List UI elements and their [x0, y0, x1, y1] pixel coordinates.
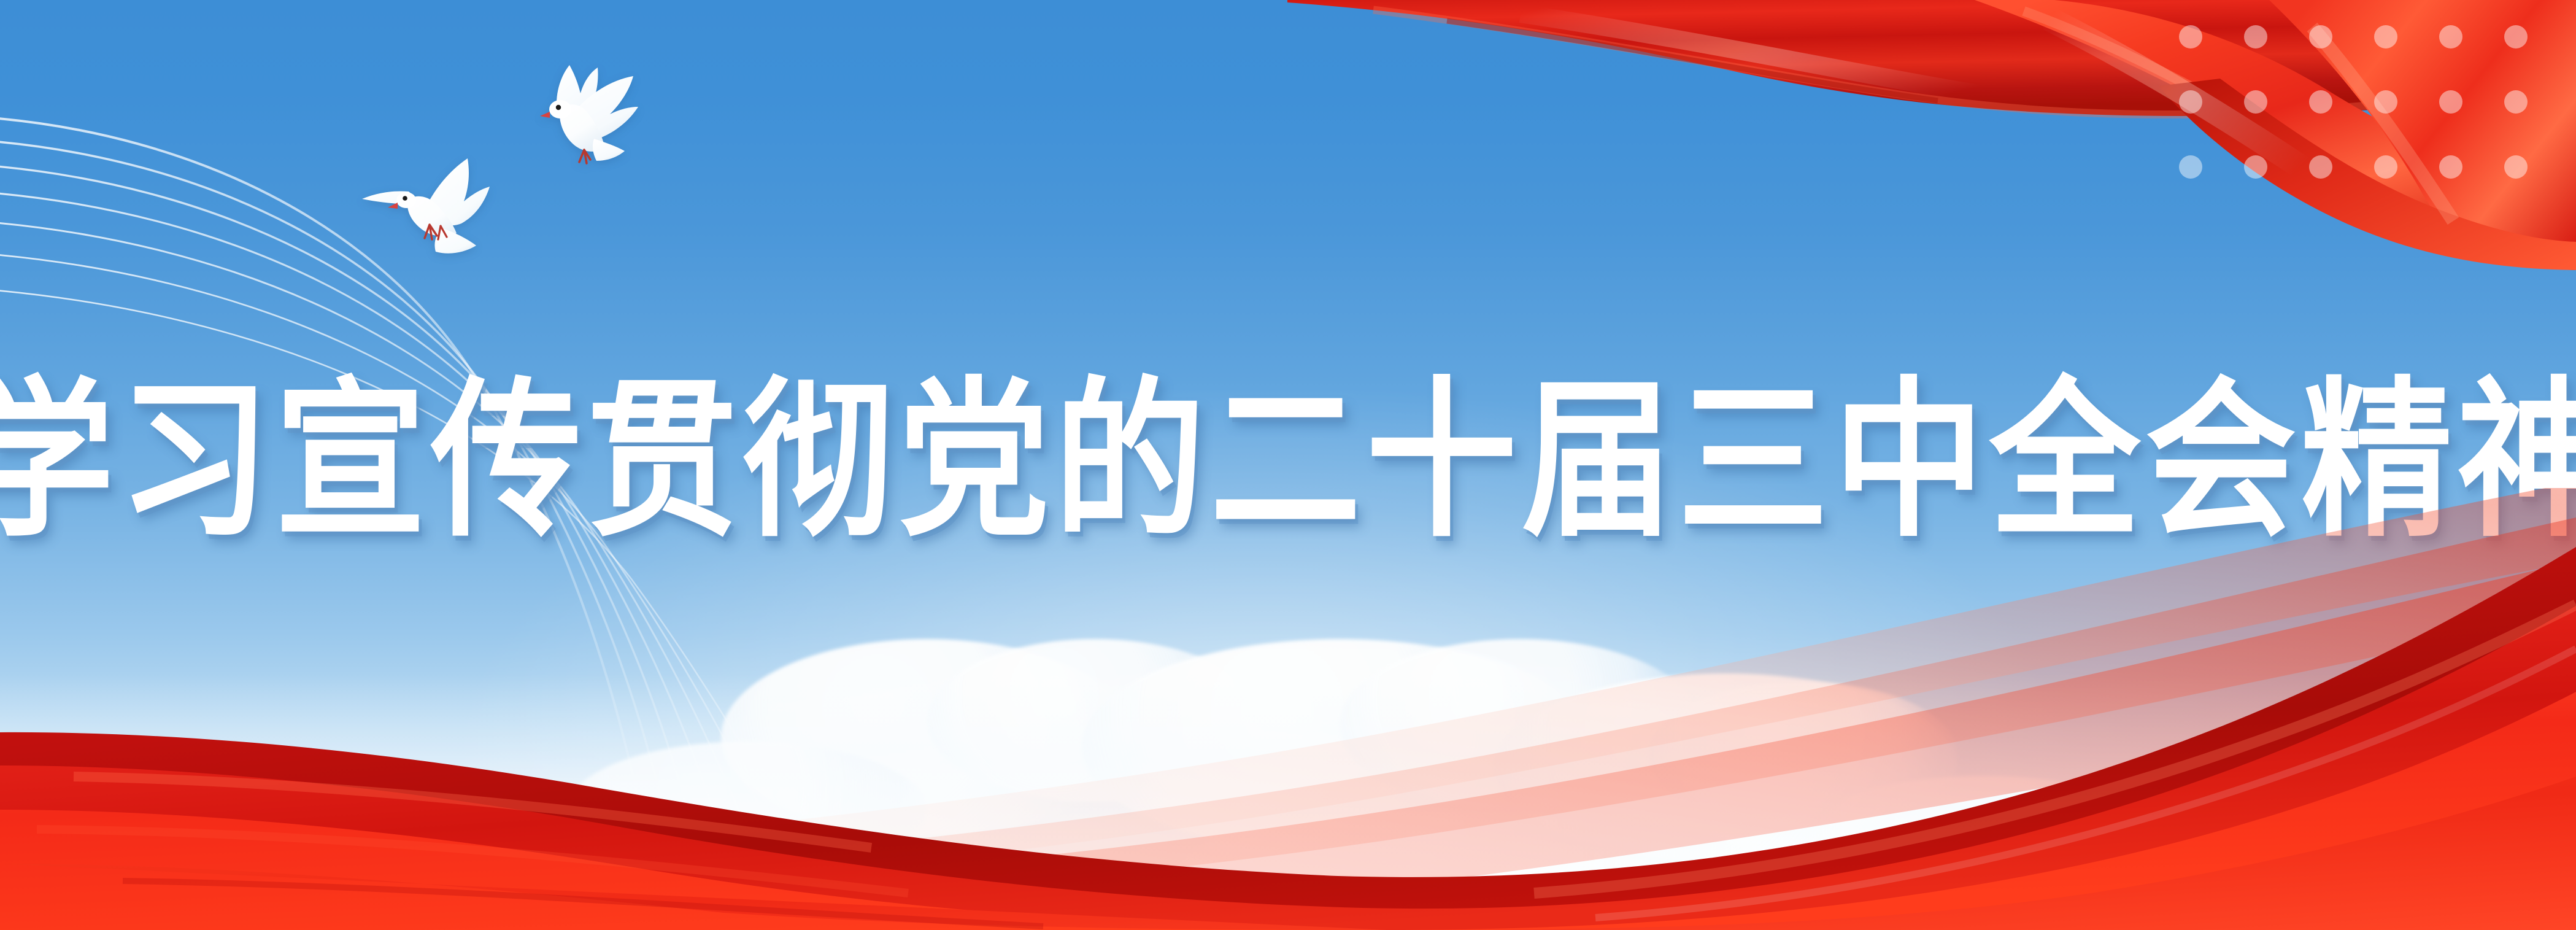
peace-dove-left	[355, 152, 514, 257]
banner-root: 学习宣传贯彻党的二十届三中全会精神	[0, 0, 2576, 930]
sky-background	[0, 0, 2576, 930]
